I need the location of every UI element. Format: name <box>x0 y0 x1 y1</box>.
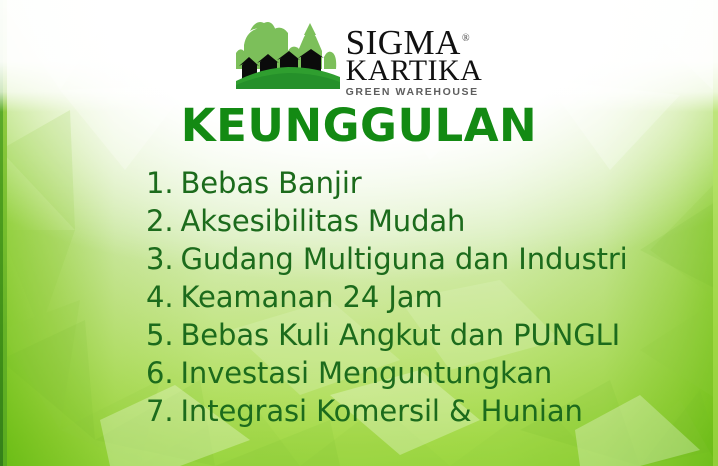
list-item-label: Bebas Kuli Angkut dan PUNGLI <box>180 318 620 352</box>
advantages-list: 1.Bebas Banjir 2.Aksesibilitas Mudah 3.G… <box>146 164 694 430</box>
list-item-number: 7. <box>146 394 173 428</box>
page-title: KEUNGGULAN <box>0 103 718 148</box>
list-item-number: 4. <box>146 280 173 314</box>
registered-trademark-icon: ® <box>462 33 470 44</box>
list-item-label: Investasi Menguntungkan <box>180 356 552 390</box>
list-item-label: Bebas Banjir <box>180 166 361 200</box>
brand-name-sigma: SIGMA® <box>346 25 483 60</box>
list-item-number: 5. <box>146 318 173 352</box>
brand-wordmark: SIGMA® KARTIKA GREEN WAREHOUSE <box>346 17 483 98</box>
list-item-number: 6. <box>146 356 173 390</box>
brand-logo: SIGMA® KARTIKA GREEN WAREHOUSE <box>0 17 718 98</box>
list-item-number: 1. <box>146 166 173 200</box>
list-item-number: 3. <box>146 242 173 276</box>
list-item: 3.Gudang Multiguna dan Industri <box>146 240 694 278</box>
list-item-label: Gudang Multiguna dan Industri <box>180 242 627 276</box>
slide-content: SIGMA® KARTIKA GREEN WAREHOUSE KEUNGGULA… <box>0 0 718 466</box>
sigma-kartika-logo-icon <box>236 17 340 89</box>
list-item-label: Integrasi Komersil & Hunian <box>180 394 582 428</box>
list-item: 5.Bebas Kuli Angkut dan PUNGLI <box>146 316 694 354</box>
list-item-number: 2. <box>146 204 173 238</box>
presentation-slide: SIGMA® KARTIKA GREEN WAREHOUSE KEUNGGULA… <box>0 0 718 466</box>
list-item-label: Aksesibilitas Mudah <box>180 204 465 238</box>
brand-tagline: GREEN WAREHOUSE <box>346 87 483 98</box>
list-item-label: Keamanan 24 Jam <box>180 280 442 314</box>
brand-name-sigma-text: SIGMA <box>346 23 461 62</box>
list-item: 2.Aksesibilitas Mudah <box>146 202 694 240</box>
list-item: 7.Integrasi Komersil & Hunian <box>146 392 694 430</box>
list-item: 4.Keamanan 24 Jam <box>146 278 694 316</box>
list-item: 6.Investasi Menguntungkan <box>146 354 694 392</box>
list-item: 1.Bebas Banjir <box>146 164 694 202</box>
